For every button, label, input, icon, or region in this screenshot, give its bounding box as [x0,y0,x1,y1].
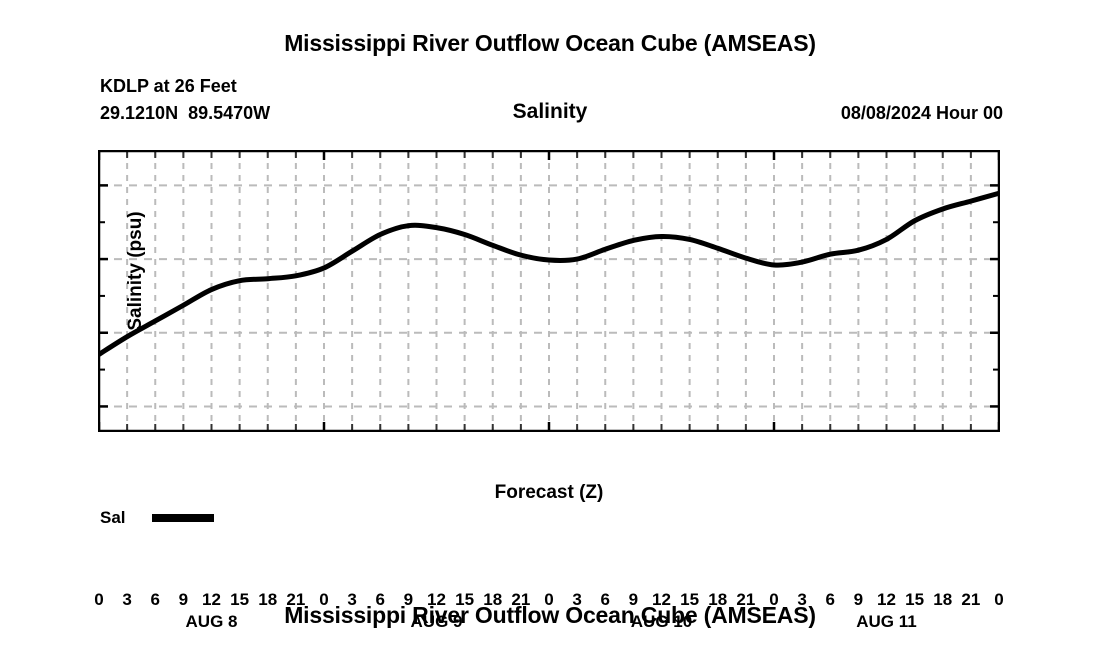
station-depth-label: KDLP at 26 Feet [100,76,237,97]
plot-area: Salinity (psu) 26.2527.0027.7528.50 0369… [98,150,1000,432]
plot-canvas [98,150,1000,432]
footer-title: Mississippi River Outflow Ocean Cube (AM… [0,602,1100,629]
chart-figure: Mississippi River Outflow Ocean Cube (AM… [0,0,1100,650]
gridlines [99,151,999,431]
legend-line-swatch [152,514,214,522]
model-run-datetime: 08/08/2024 Hour 00 [841,103,1003,124]
legend: Sal [100,508,214,528]
page-title: Mississippi River Outflow Ocean Cube (AM… [0,30,1100,57]
x-axis-title: Forecast (Z) [98,482,1000,504]
y-axis-title: Salinity (psu) [125,171,147,371]
legend-entry-label: Sal [100,508,148,528]
